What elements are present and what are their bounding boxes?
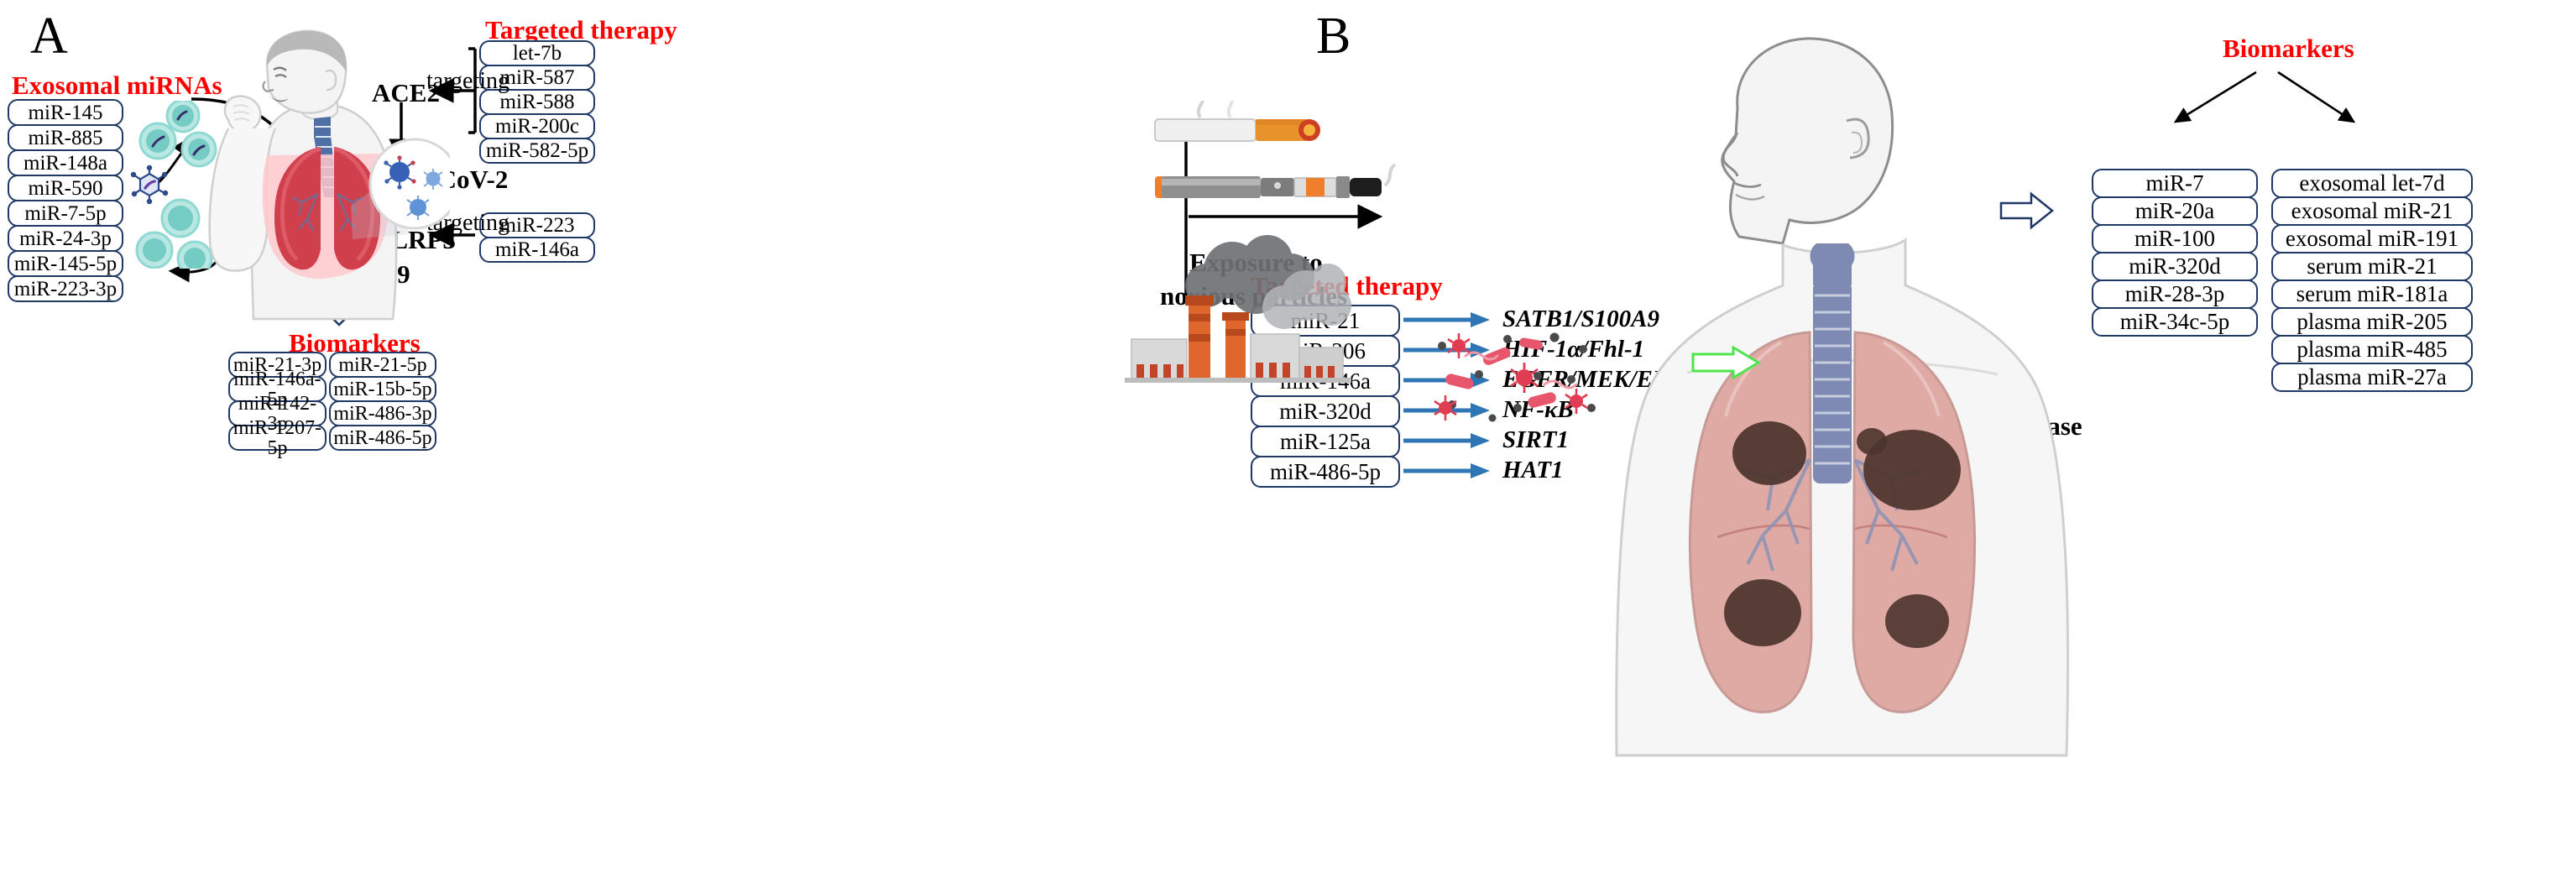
biomarker-a-left-box-3: miR-1207-5p — [228, 425, 327, 451]
factory-smoke-icon — [1108, 208, 1377, 418]
copd-man-icon — [1561, 34, 2115, 873]
biomarker-a-right-box-0: miR-21-5p — [329, 352, 436, 378]
biomarker-a-right-box-3: miR-486-5p — [329, 425, 436, 451]
coughing-man-icon — [173, 29, 450, 348]
virus-icon-small — [130, 165, 169, 205]
biomarkers-list-a-right: miR-21-5pmiR-15b-5pmiR-486-3pmiR-486-5p — [329, 352, 436, 451]
green-pointer-arrow-icon — [1691, 346, 1762, 379]
biomarker-a-right-box-1: miR-15b-5p — [329, 376, 436, 402]
biomarkers-list-a-left: miR-21-3pmiR-146a-5pmiR-142-3pmiR-1207-5… — [228, 352, 327, 451]
biomarker-a-right-box-2: miR-486-3p — [329, 400, 436, 426]
